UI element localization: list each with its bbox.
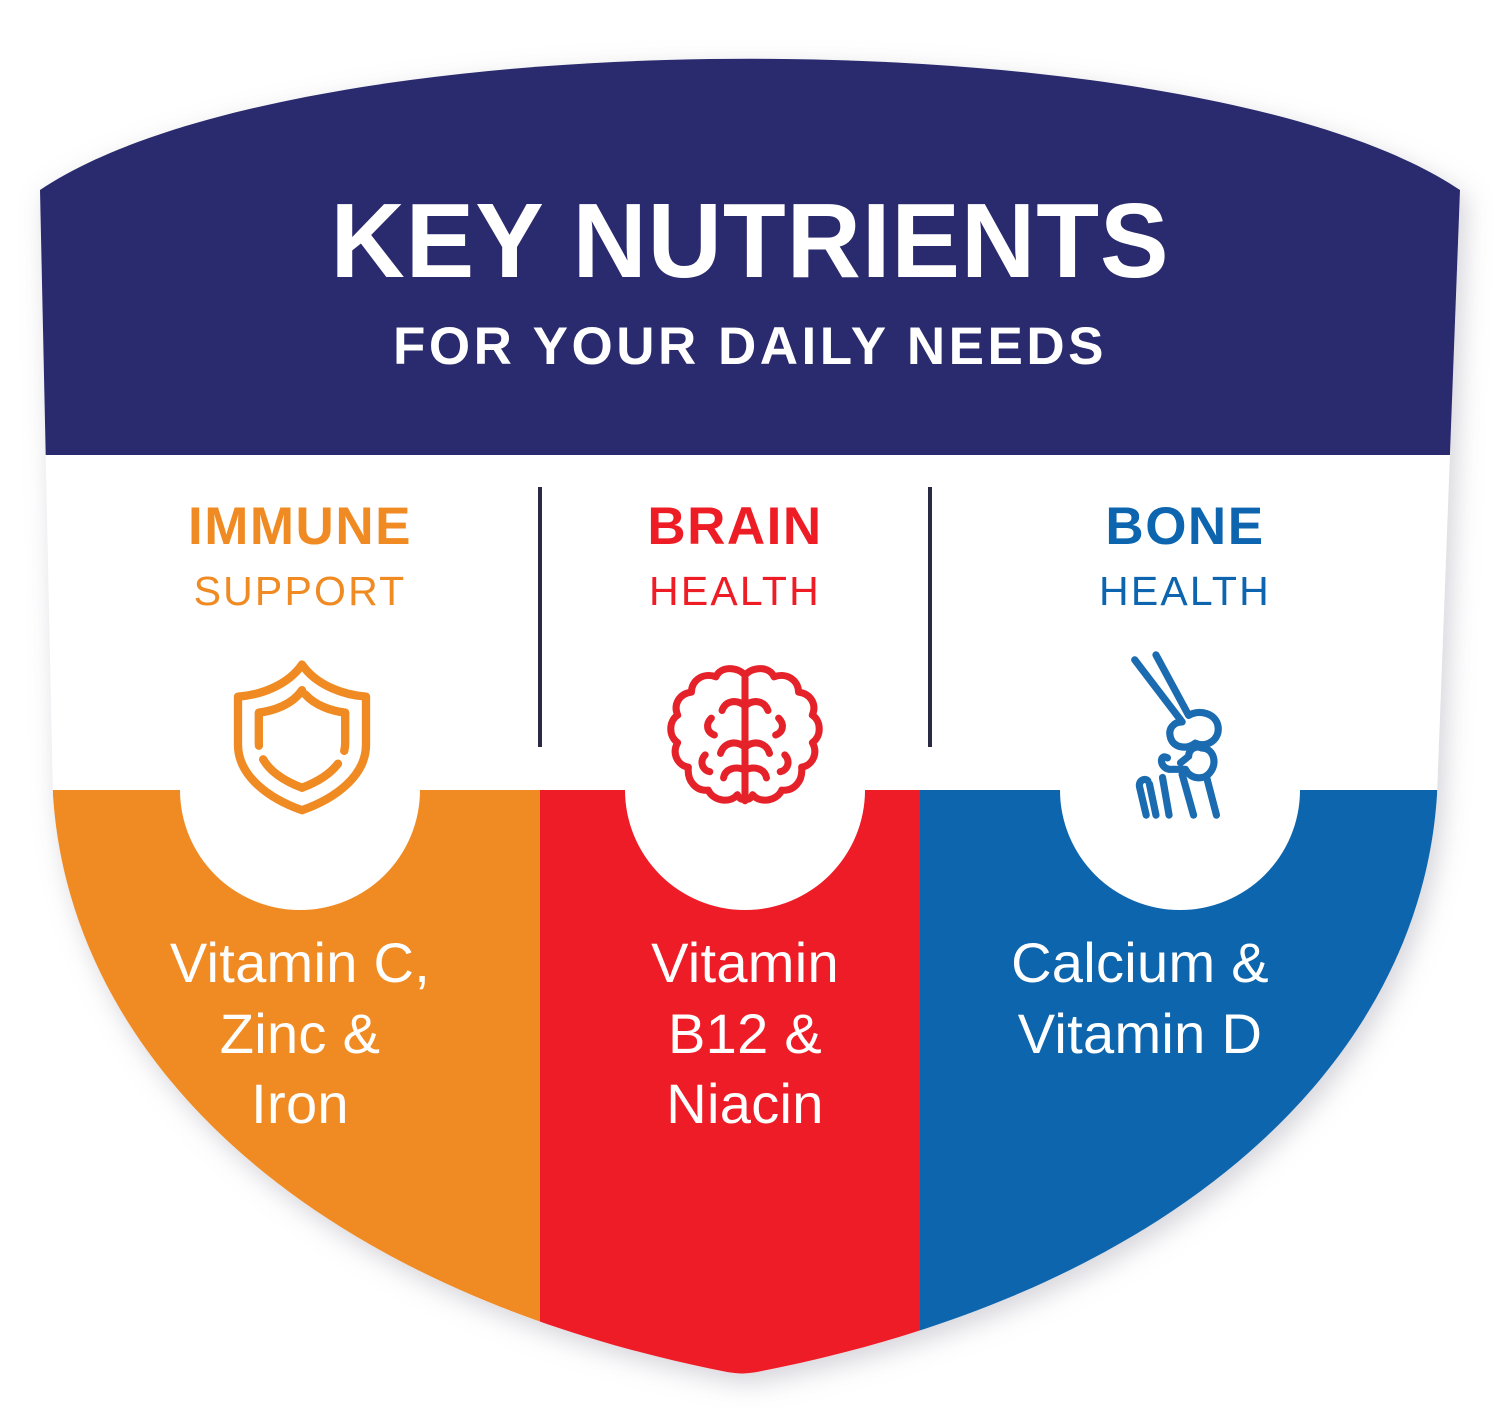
infographic-root: KEY NUTRIENTS FOR YOUR DAILY NEEDS IMMUN… <box>0 0 1500 1409</box>
nutrient-panels <box>0 760 1500 1409</box>
panel-immune <box>0 760 540 1409</box>
header-band <box>0 0 1500 455</box>
shield-graphic <box>0 0 1500 1409</box>
panel-brain <box>540 760 920 1409</box>
panel-bone <box>920 760 1500 1409</box>
shield-body <box>0 0 1500 1409</box>
